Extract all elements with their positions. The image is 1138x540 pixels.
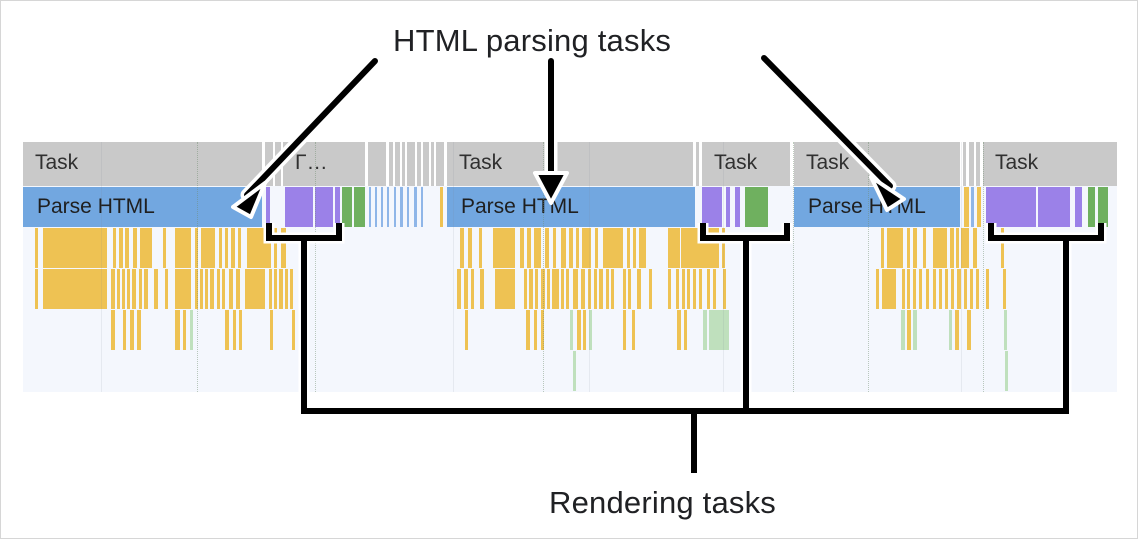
task-block-narrow[interactable]	[368, 142, 386, 186]
flame-bar[interactable]	[553, 269, 556, 309]
flame-bar[interactable]	[603, 228, 623, 268]
timeline-segment-lightblue[interactable]	[381, 187, 383, 227]
flame-bar[interactable]	[606, 269, 609, 309]
flame-bar[interactable]	[1003, 269, 1006, 309]
timeline-segment-purple[interactable]	[315, 187, 333, 227]
flame-bar[interactable]	[139, 269, 142, 309]
flame-bar[interactable]	[520, 228, 524, 268]
flame-bar[interactable]	[117, 269, 120, 309]
task-block-label: Γ…	[295, 151, 328, 175]
timeline-segment-green[interactable]	[1088, 187, 1095, 227]
timeline-segment-lightblue[interactable]	[400, 187, 403, 227]
flame-bar[interactable]	[956, 228, 959, 268]
flame-bar[interactable]	[175, 269, 191, 309]
performance-timeline-panel[interactable]: TaskΓ…TaskTaskTaskTask Parse HTMLParse H…	[23, 142, 1117, 392]
flame-bar[interactable]	[628, 269, 631, 309]
flame-bar[interactable]	[236, 269, 240, 309]
flame-bar[interactable]	[133, 228, 137, 268]
flame-bar[interactable]	[923, 228, 926, 268]
timeline-segment-green[interactable]	[342, 187, 352, 227]
task-block-narrow[interactable]	[969, 142, 974, 186]
flame-bar[interactable]	[637, 269, 641, 309]
timeline-segment-yellow[interactable]	[977, 187, 981, 227]
flame-bar[interactable]	[986, 269, 989, 309]
flame-bar[interactable]	[684, 310, 687, 350]
flame-bar[interactable]	[907, 310, 911, 350]
flame-bar[interactable]	[668, 269, 671, 309]
task-block-label: Task	[995, 151, 1038, 175]
flame-bar[interactable]	[611, 269, 614, 309]
flame-bar[interactable]	[649, 269, 652, 309]
flame-bar[interactable]	[480, 269, 484, 309]
flame-bar[interactable]	[668, 228, 680, 268]
flame-bar[interactable]	[290, 269, 293, 309]
flame-bar[interactable]	[545, 228, 549, 268]
flame-bar[interactable]	[239, 310, 242, 350]
task-block-label: Task	[714, 151, 757, 175]
flame-bar[interactable]	[682, 269, 685, 309]
flame-bar[interactable]	[247, 228, 271, 268]
task-block-narrow[interactable]	[389, 142, 393, 186]
flame-bar[interactable]	[581, 269, 585, 309]
task-block-label: Task	[35, 151, 78, 175]
parse-html-label: Parse HTML	[461, 195, 579, 219]
flame-bar[interactable]	[553, 228, 556, 268]
flame-bar[interactable]	[939, 269, 942, 309]
flame-bar[interactable]	[269, 269, 272, 309]
flame-bar[interactable]	[175, 228, 191, 268]
timeline-segment-green[interactable]	[745, 187, 768, 227]
flame-bar[interactable]	[933, 228, 947, 268]
flame-bar[interactable]	[281, 228, 286, 268]
devtools-performance-screenshot: TaskΓ…TaskTaskTaskTask Parse HTMLParse H…	[0, 0, 1138, 539]
flame-bar[interactable]	[594, 269, 597, 309]
timeline-gridline	[868, 142, 870, 392]
flame-bar[interactable]	[524, 269, 527, 309]
flame-bar[interactable]	[123, 310, 126, 350]
flame-bar[interactable]	[547, 269, 550, 309]
timeline-segment-lightblue[interactable]	[971, 187, 974, 227]
task-block-narrow[interactable]	[395, 142, 400, 186]
timeline-segment-lightblue[interactable]	[407, 187, 409, 227]
flame-bar[interactable]	[526, 310, 530, 350]
flame-bar[interactable]	[951, 269, 954, 309]
task-block-narrow[interactable]	[696, 142, 699, 186]
flame-bar[interactable]	[140, 228, 152, 268]
flame-bar[interactable]	[274, 269, 277, 309]
timeline-gridline	[961, 142, 962, 392]
task-block-narrow[interactable]	[407, 142, 415, 186]
flame-bar[interactable]	[699, 269, 702, 309]
timeline-segment-lightblue[interactable]	[369, 187, 371, 227]
flame-chart-row[interactable]	[23, 351, 1117, 391]
flame-bar[interactable]	[154, 269, 158, 309]
flame-bar[interactable]	[623, 310, 626, 350]
flame-bar[interactable]	[534, 228, 541, 268]
flame-bar[interactable]	[468, 228, 472, 268]
flame-bar[interactable]	[1004, 310, 1007, 350]
task-block-narrow[interactable]	[417, 142, 421, 186]
parse-html-label: Parse HTML	[37, 195, 155, 219]
rendering-tasks-label: Rendering tasks	[549, 485, 776, 521]
flame-bar[interactable]	[566, 269, 569, 309]
flame-bar[interactable]	[599, 269, 603, 309]
flame-bar[interactable]	[964, 269, 967, 309]
timeline-gridline	[543, 142, 545, 392]
flame-bar[interactable]	[279, 269, 283, 309]
flame-bar[interactable]	[460, 228, 464, 268]
flame-bar[interactable]	[111, 269, 115, 309]
flame-bar[interactable]	[113, 228, 116, 268]
timeline-gridline	[589, 142, 590, 392]
flame-bar[interactable]	[527, 228, 531, 268]
flame-bar[interactable]	[122, 269, 125, 309]
flame-bar[interactable]	[43, 228, 107, 268]
flame-bar[interactable]	[534, 310, 537, 350]
flame-bar[interactable]	[627, 228, 630, 268]
task-block-narrow[interactable]	[976, 142, 980, 186]
flame-chart-row[interactable]	[23, 228, 1117, 268]
parse-html-label: Parse HTML	[808, 195, 926, 219]
flame-bar[interactable]	[1001, 228, 1004, 268]
timeline-segment-lightblue[interactable]	[375, 187, 377, 227]
flame-bar[interactable]	[882, 269, 896, 309]
flame-bar[interactable]	[245, 269, 265, 309]
timeline-segment-yellow[interactable]	[964, 187, 969, 227]
task-block-narrow[interactable]	[963, 142, 966, 186]
timeline-gridline	[983, 142, 985, 392]
flame-bar[interactable]	[190, 310, 193, 350]
flame-bar[interactable]	[217, 269, 220, 309]
flame-bar[interactable]	[127, 269, 130, 309]
flame-bar[interactable]	[676, 269, 679, 309]
flame-bar[interactable]	[950, 228, 954, 268]
timeline-gridline	[723, 142, 724, 392]
task-block-narrow[interactable]	[265, 142, 273, 186]
flame-bar[interactable]	[457, 269, 461, 309]
flame-bar[interactable]	[569, 228, 573, 268]
flame-chart-row[interactable]	[23, 310, 1117, 350]
flame-bar[interactable]	[200, 269, 203, 309]
flame-bar[interactable]	[970, 269, 973, 309]
task-band-row[interactable]: TaskΓ…TaskTaskTaskTask	[23, 142, 1117, 186]
timeline-segment-purple[interactable]	[726, 187, 730, 227]
task-block-narrow[interactable]	[431, 142, 434, 186]
flame-bar[interactable]	[285, 269, 288, 309]
flame-bar[interactable]	[623, 269, 626, 309]
flame-bar[interactable]	[132, 269, 136, 309]
timeline-segment-purple[interactable]	[735, 187, 740, 227]
flame-bar[interactable]	[270, 310, 273, 350]
flame-bar[interactable]	[961, 228, 969, 268]
flame-bar[interactable]	[902, 269, 905, 309]
flame-bar[interactable]	[639, 228, 646, 268]
timeline-segment-lightblue[interactable]	[421, 187, 423, 227]
flame-bar[interactable]	[119, 228, 123, 268]
flame-bar[interactable]	[495, 269, 515, 309]
flame-bar[interactable]	[35, 269, 38, 309]
timeline-segment-green[interactable]	[354, 187, 365, 227]
timeline-segment-lightblue[interactable]	[394, 187, 396, 227]
flame-bar[interactable]	[1005, 351, 1008, 391]
task-block-narrow[interactable]	[436, 142, 444, 186]
flame-bar[interactable]	[949, 310, 952, 350]
flame-bar[interactable]	[707, 269, 710, 309]
timeline-segment-purple[interactable]	[335, 187, 340, 227]
flame-bar[interactable]	[693, 269, 696, 309]
flame-bar[interactable]	[907, 228, 910, 268]
task-block-label: Task	[806, 151, 849, 175]
flame-bar[interactable]	[901, 310, 905, 350]
flame-bar[interactable]	[926, 269, 929, 309]
timeline-segment-purple[interactable]	[986, 187, 1036, 227]
flame-bar[interactable]	[677, 310, 681, 350]
flame-bar[interactable]	[144, 269, 148, 309]
flame-bar[interactable]	[945, 269, 948, 309]
flame-bar[interactable]	[535, 269, 538, 309]
flame-bar[interactable]	[703, 310, 707, 350]
flame-bar[interactable]	[955, 310, 959, 350]
task-block-narrow[interactable]	[402, 142, 405, 186]
flame-bar[interactable]	[913, 310, 917, 350]
flame-bar[interactable]	[632, 310, 635, 350]
flame-bar[interactable]	[165, 269, 168, 309]
task-block-label: Task	[459, 151, 502, 175]
flame-bar[interactable]	[163, 228, 166, 268]
flame-bar[interactable]	[233, 310, 236, 350]
flame-bar[interactable]	[633, 228, 636, 268]
flame-bar[interactable]	[561, 269, 564, 309]
flame-bar[interactable]	[976, 269, 979, 309]
flame-bar[interactable]	[913, 269, 916, 309]
flame-bar[interactable]	[887, 228, 903, 268]
flame-bar[interactable]	[570, 310, 573, 350]
flame-bar[interactable]	[913, 228, 917, 268]
flame-bar[interactable]	[137, 310, 141, 350]
flame-bar[interactable]	[681, 228, 719, 268]
flame-bar[interactable]	[183, 310, 186, 350]
flame-bar[interactable]	[573, 269, 578, 309]
flame-bar[interactable]	[876, 269, 879, 309]
flame-bar[interactable]	[464, 269, 468, 309]
flame-bar[interactable]	[225, 310, 229, 350]
flame-bar[interactable]	[713, 269, 716, 309]
flame-bar[interactable]	[881, 228, 884, 268]
flame-bar[interactable]	[595, 228, 598, 268]
flame-bar[interactable]	[687, 269, 690, 309]
flame-bar[interactable]	[205, 269, 208, 309]
timeline-segment-purple[interactable]	[266, 187, 270, 227]
timeline-segment-yellow[interactable]	[440, 187, 443, 227]
flame-bar[interactable]	[973, 228, 977, 268]
timeline-segment-lightblue[interactable]	[414, 187, 417, 227]
flame-bar[interactable]	[238, 228, 241, 268]
timeline-segment-purple[interactable]	[1038, 187, 1070, 227]
flame-bar[interactable]	[465, 310, 468, 350]
flame-bar[interactable]	[225, 228, 228, 268]
timeline-segment-purple[interactable]	[285, 187, 313, 227]
timeline-gridline	[793, 142, 795, 392]
flame-bar[interactable]	[229, 269, 233, 309]
flame-bar[interactable]	[933, 269, 936, 309]
task-block-narrow[interactable]	[275, 142, 281, 186]
flame-bar[interactable]	[231, 228, 235, 268]
timeline-gridline	[101, 142, 102, 392]
timeline-segment-purple[interactable]	[1075, 187, 1082, 227]
html-parsing-tasks-label: HTML parsing tasks	[393, 23, 671, 59]
flame-bar[interactable]	[967, 310, 971, 350]
flame-bar[interactable]	[561, 228, 566, 268]
timeline-gridline	[197, 142, 199, 392]
task-block-narrow[interactable]	[423, 142, 429, 186]
flame-bar[interactable]	[111, 310, 115, 350]
flame-bar[interactable]	[583, 310, 586, 350]
timeline-gridline	[315, 142, 317, 392]
flame-bar[interactable]	[577, 310, 581, 350]
flame-bar[interactable]	[201, 228, 215, 268]
flame-bar[interactable]	[274, 228, 277, 268]
flame-bar[interactable]	[35, 228, 38, 268]
flame-bar[interactable]	[493, 228, 515, 268]
flame-bar[interactable]	[43, 269, 107, 309]
flame-bar[interactable]	[919, 269, 922, 309]
parse-html-row[interactable]: Parse HTMLParse HTMLParse HTML	[23, 187, 1117, 227]
timeline-gridline	[453, 142, 454, 392]
flame-bar[interactable]	[219, 228, 222, 268]
timeline-segment-lightblue[interactable]	[387, 187, 389, 227]
flame-bar[interactable]	[222, 269, 225, 309]
flame-bar[interactable]	[210, 269, 214, 309]
flame-bar[interactable]	[907, 269, 910, 309]
flame-bar[interactable]	[292, 310, 295, 350]
flame-bar[interactable]	[709, 310, 729, 350]
flame-bar[interactable]	[125, 228, 129, 268]
flame-bar[interactable]	[573, 351, 576, 391]
flame-bar[interactable]	[175, 310, 180, 350]
flame-bar[interactable]	[130, 310, 134, 350]
flame-chart-row[interactable]	[23, 269, 1117, 309]
flame-bar[interactable]	[529, 269, 533, 309]
flame-bar[interactable]	[479, 228, 482, 268]
timeline-segment-green[interactable]	[1098, 187, 1108, 227]
flame-bar[interactable]	[471, 269, 474, 309]
timeline-segment-purple[interactable]	[702, 187, 722, 227]
flame-bar[interactable]	[576, 228, 579, 268]
